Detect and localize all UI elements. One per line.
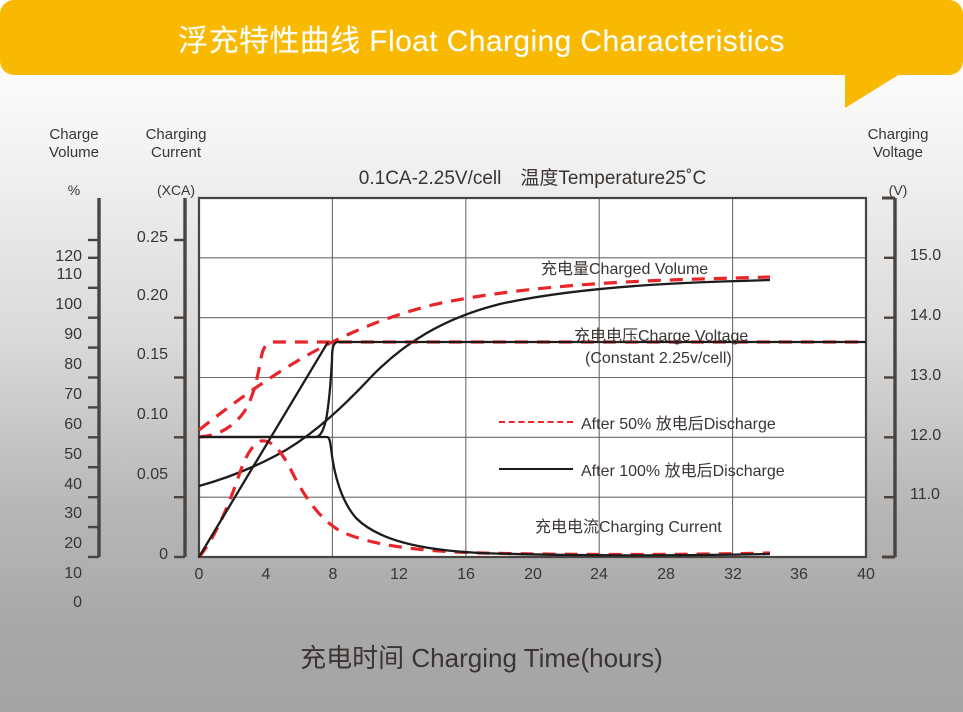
left-outer-axis-title-line1: Charge xyxy=(32,126,116,144)
ytick-volume-60: 60 xyxy=(34,416,82,435)
ytick-voltage-150: 15.0 xyxy=(910,247,941,266)
ytick-voltage-120: 12.0 xyxy=(910,427,941,446)
axis-right xyxy=(882,198,895,557)
left-outer-axis-title-line2: Volume xyxy=(32,144,116,162)
ytick-volume-50: 50 xyxy=(34,446,82,465)
ytick-volume-10: 10 xyxy=(34,565,82,584)
ytick-volume-70: 70 xyxy=(34,386,82,405)
xtick-8: 8 xyxy=(313,566,353,585)
ytick-volume-110: 110 xyxy=(34,266,82,285)
legend-item-after-100: After 100% 放电后Discharge xyxy=(499,457,785,481)
plot-area-frame xyxy=(199,198,866,557)
axis-right-ticks xyxy=(884,258,895,497)
ytick-current-015: 0.15 xyxy=(108,346,168,365)
xtick-0: 0 xyxy=(179,566,219,585)
ytick-volume-0: 0 xyxy=(34,594,82,613)
series-charged-volume-100 xyxy=(199,280,770,486)
left-outer-axis-unit: % xyxy=(32,182,116,199)
xtick-16: 16 xyxy=(446,566,486,585)
legend-swatch-solid-icon xyxy=(499,468,573,470)
ytick-volume-120: 120 xyxy=(34,248,82,267)
xtick-32: 32 xyxy=(713,566,753,585)
right-axis-title: Charging Voltage xyxy=(852,126,944,161)
banner-tail-icon xyxy=(845,74,900,108)
legend-swatch-dashed-icon xyxy=(499,421,573,423)
ytick-voltage-110: 11.0 xyxy=(910,486,940,505)
ytick-current-020: 0.20 xyxy=(108,287,168,306)
legend-label-after-100: After 100% 放电后Discharge xyxy=(581,457,785,481)
ytick-current-010: 0.10 xyxy=(108,406,168,425)
plot-title: 0.1CA-2.25V/cell 温度Temperature25˚C xyxy=(199,163,866,190)
xtick-4: 4 xyxy=(246,566,286,585)
ytick-volume-30: 30 xyxy=(34,505,82,524)
header-banner: 浮充特性曲线 Float Charging Characteristics xyxy=(0,0,963,100)
series-charging-current-100 xyxy=(199,342,328,557)
ytick-voltage-140: 14.0 xyxy=(910,307,941,326)
ytick-volume-100: 100 xyxy=(34,296,82,315)
right-axis-title-line1: Charging xyxy=(852,126,944,144)
annotation-charge-voltage-line1: 充电电压Charge Voltage xyxy=(574,328,748,347)
axis-left-outer-ticks xyxy=(88,240,99,557)
grid-vertical xyxy=(332,198,732,557)
ytick-volume-20: 20 xyxy=(34,535,82,554)
axis-left-inner-ticks xyxy=(174,240,185,557)
plot-area-background xyxy=(199,198,866,557)
ytick-volume-80: 80 xyxy=(34,356,82,375)
left-outer-axis-title: Charge Volume xyxy=(32,126,116,161)
ytick-volume-40: 40 xyxy=(34,476,82,495)
right-axis-title-line2: Voltage xyxy=(852,144,944,162)
xtick-12: 12 xyxy=(379,566,419,585)
xtick-20: 20 xyxy=(513,566,553,585)
ytick-volume-90: 90 xyxy=(34,326,82,345)
axis-left-inner xyxy=(174,198,185,557)
ytick-current-0: 0 xyxy=(108,546,168,565)
legend-item-after-50: After 50% 放电后Discharge xyxy=(499,410,776,434)
left-inner-axis-title-line2: Current xyxy=(133,144,219,162)
left-inner-axis-title: Charging Current xyxy=(133,126,219,161)
xtick-28: 28 xyxy=(646,566,686,585)
xtick-24: 24 xyxy=(579,566,619,585)
page-title: 浮充特性曲线 Float Charging Characteristics xyxy=(0,0,963,75)
ytick-current-025: 0.25 xyxy=(108,229,168,248)
chart-caption: 充电时间 Charging Time(hours) xyxy=(0,638,963,675)
left-inner-axis-title-line1: Charging xyxy=(133,126,219,144)
annotation-charged-volume: 充电量Charged Volume xyxy=(541,261,708,280)
annotation-charging-current: 充电电流Charging Current xyxy=(535,519,722,538)
axis-left-outer xyxy=(88,198,99,557)
ytick-voltage-130: 13.0 xyxy=(910,367,941,386)
annotation-charge-voltage-line2: (Constant 2.25v/cell) xyxy=(585,350,732,369)
ytick-current-005: 0.05 xyxy=(108,466,168,485)
legend-label-after-50: After 50% 放电后Discharge xyxy=(581,410,776,434)
xtick-40: 40 xyxy=(846,566,886,585)
xtick-36: 36 xyxy=(779,566,819,585)
